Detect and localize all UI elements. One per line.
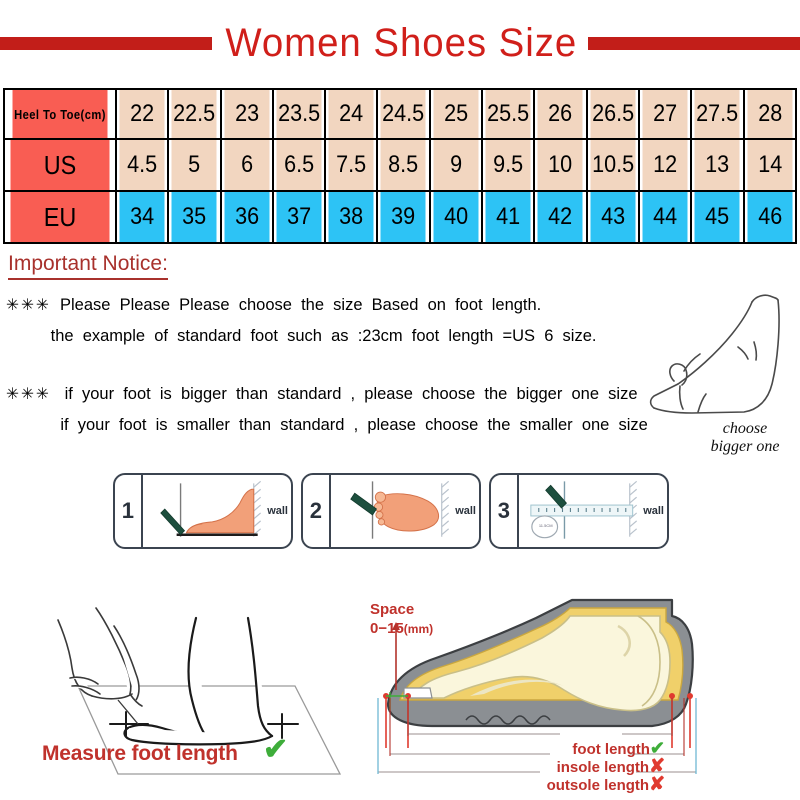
cell-eu-5: 39 [380, 191, 427, 243]
wall-label-3: wall [643, 505, 664, 517]
cell-heel-0: 22 [119, 89, 166, 139]
legend-outsole-length-label: outsole length [547, 777, 650, 794]
space-unit: (mm) [404, 622, 433, 636]
measure-steps: 1 wall 2 [113, 473, 669, 549]
cell-us-10: 12 [642, 139, 689, 191]
legend-insole-length-label: insole length [557, 759, 650, 776]
legend-foot-length-label: foot length [572, 741, 649, 758]
space-label-line-2: 0−15(mm) [370, 619, 433, 639]
cell-eu-1: 35 [171, 191, 218, 243]
cell-us-8: 10 [537, 139, 584, 191]
row-header-heel-to-toe: Heel To Toe(cm) [12, 89, 108, 139]
notice-bullet-1-line-1: ✳✳✳ Please Please Please choose the size… [6, 290, 675, 321]
notice-text-2a: if your foot is bigger than standard , p… [65, 384, 638, 403]
choose-line-1: choose [690, 420, 800, 438]
cell-eu-7: 41 [485, 191, 532, 243]
cell-heel-9: 26.5 [589, 89, 636, 139]
page-title-banner: Women Shoes Size [0, 18, 800, 68]
cell-us-0: 4.5 [119, 139, 166, 191]
row-header-eu: EU [10, 191, 111, 243]
step-number-3: 3 [491, 475, 519, 547]
legend-foot-length: foot length✔ [485, 740, 665, 758]
cell-us-4: 7.5 [328, 139, 375, 191]
cell-us-12: 14 [746, 139, 793, 191]
cell-us-7: 9.5 [485, 139, 532, 191]
step-panel-1: 1 wall [113, 473, 293, 549]
cell-us-11: 13 [694, 139, 741, 191]
measure-check-icon: ✔ [263, 735, 288, 765]
important-notice-body: ✳✳✳ Please Please Please choose the size… [6, 290, 675, 440]
cell-heel-6: 25 [432, 89, 479, 139]
cell-us-6: 9 [432, 139, 479, 191]
size-chart-table: Heel To Toe(cm) 22 22.5 23 23.5 24 24.5 … [3, 88, 797, 244]
shoe-measure-legend: foot length✔ insole length✘ outsole leng… [485, 740, 665, 794]
step-panel-3: 3 [489, 473, 669, 549]
cell-us-3: 6.5 [276, 139, 323, 191]
cell-us-5: 8.5 [380, 139, 427, 191]
cell-eu-2: 36 [223, 191, 270, 243]
step-number-1: 1 [115, 475, 143, 547]
notice-text-1a: Please Please Please choose the size Bas… [60, 295, 541, 314]
cell-eu-4: 38 [328, 191, 375, 243]
wall-label-1: wall [267, 505, 288, 517]
choose-line-2: bigger one [690, 438, 800, 456]
cell-heel-2: 23 [223, 89, 270, 139]
step-art-1: wall [143, 475, 291, 547]
cell-heel-3: 23.5 [276, 89, 323, 139]
notice-text-1b: the example of standard foot such as :23… [6, 321, 675, 351]
notice-paragraph-gap [6, 351, 675, 379]
cell-heel-4: 24 [328, 89, 375, 139]
cell-eu-8: 42 [537, 191, 584, 243]
step-art-3: 11.5CM wall [519, 475, 667, 547]
notice-text-2b: if your foot is smaller than standard , … [6, 410, 675, 440]
ruler-value-label: 11.5CM [533, 515, 559, 535]
cell-heel-11: 27.5 [694, 89, 741, 139]
measure-foot-length-label: Measure foot length [42, 742, 238, 766]
cell-heel-12: 28 [746, 89, 793, 139]
notice-marker-1: ✳✳✳ [6, 297, 51, 314]
title-rule-right [588, 37, 800, 50]
row-header-us: US [10, 139, 111, 191]
cell-eu-12: 46 [746, 191, 793, 243]
cell-heel-10: 27 [642, 89, 689, 139]
cell-us-9: 10.5 [589, 139, 636, 191]
cell-eu-3: 37 [276, 191, 323, 243]
table-row-us: US 4.5 5 6 6.5 7.5 8.5 9 9.5 10 10.5 12 … [4, 139, 796, 191]
cell-eu-9: 43 [589, 191, 636, 243]
title-rule-left [0, 37, 212, 50]
important-notice-heading: Important Notice: [8, 252, 168, 280]
cell-eu-10: 44 [642, 191, 689, 243]
legend-outsole-length: outsole length✘ [485, 776, 665, 794]
cell-heel-7: 25.5 [485, 89, 532, 139]
cell-us-2: 6 [223, 139, 270, 191]
cell-heel-5: 24.5 [380, 89, 427, 139]
step-panel-2: 2 wall [301, 473, 481, 549]
cell-eu-11: 45 [694, 191, 741, 243]
cell-heel-8: 26 [537, 89, 584, 139]
wall-label-2: wall [455, 505, 476, 517]
choose-bigger-one-caption: choose bigger one [690, 420, 800, 456]
page-title: Women Shoes Size [225, 21, 577, 65]
outsole-length-cross-icon: ✘ [649, 774, 665, 795]
space-range-value: 0−15 [370, 620, 404, 637]
table-row-heel-to-toe: Heel To Toe(cm) 22 22.5 23 23.5 24 24.5 … [4, 89, 796, 139]
legend-insole-length: insole length✘ [485, 758, 665, 776]
space-measurement-label: Space 0−15(mm) [370, 600, 433, 639]
cell-eu-0: 34 [119, 191, 166, 243]
step-art-2: wall [331, 475, 479, 547]
foot-length-check-icon: ✔ [650, 738, 665, 758]
cell-heel-1: 22.5 [171, 89, 218, 139]
notice-bullet-2-line-1: ✳✳✳ if your foot is bigger than standard… [6, 379, 675, 410]
space-label-line-1: Space [370, 600, 433, 619]
cell-us-1: 5 [171, 139, 218, 191]
step-number-2: 2 [303, 475, 331, 547]
cell-eu-6: 40 [432, 191, 479, 243]
notice-marker-2: ✳✳✳ [6, 386, 51, 403]
table-row-eu: EU 34 35 36 37 38 39 40 41 42 43 44 45 4… [4, 191, 796, 243]
